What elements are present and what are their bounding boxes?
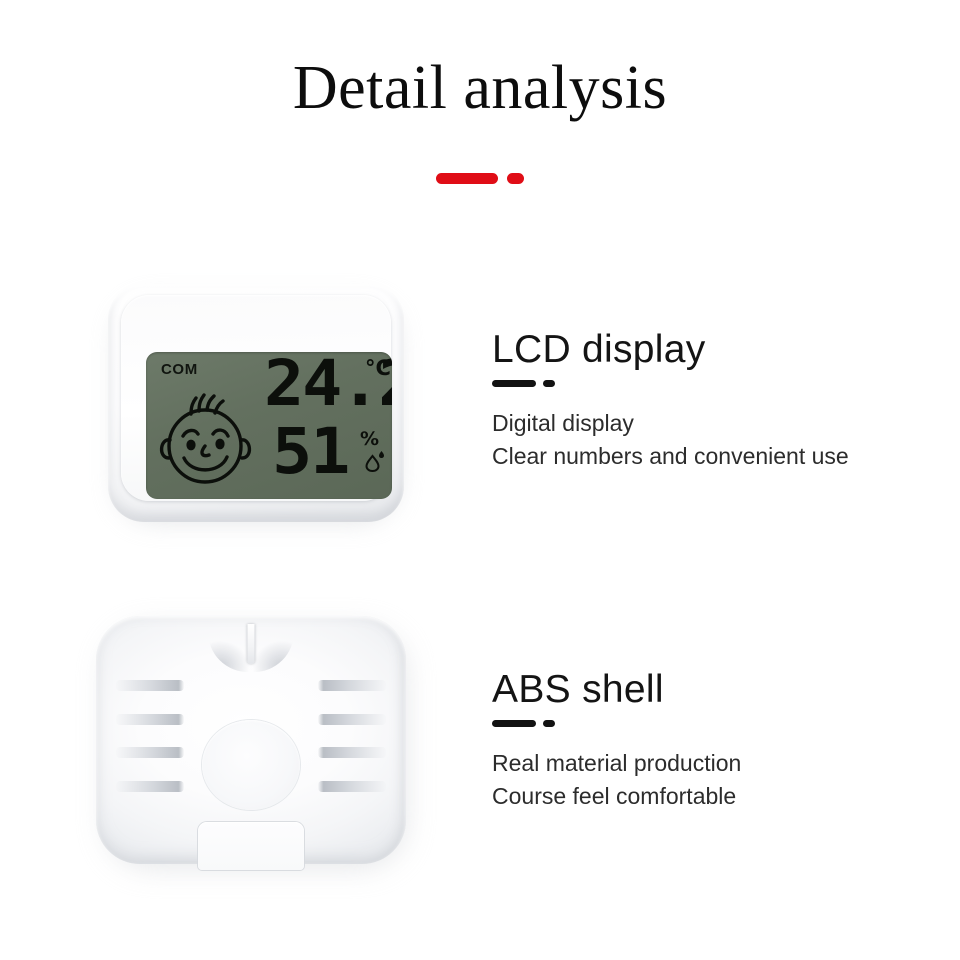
title-accent-divider [0, 173, 960, 184]
percent-unit-icon: % [360, 428, 379, 450]
feature-subtext-line-1-abs-shell: Real material production [492, 747, 942, 780]
lcd-readout: 24.2 °C 51 % [264, 354, 392, 499]
vent-slot [318, 781, 386, 792]
device-front-view: COM [108, 284, 404, 526]
feature-subtext-line-2-abs-shell: Course feel comfortable [492, 780, 942, 813]
device-back-body [96, 616, 406, 864]
page-title: Detail analysis [0, 54, 960, 122]
feature-row-lcd-display: COM [0, 252, 960, 552]
smiley-face-icon [153, 384, 258, 492]
lcd-mode-label: COM [161, 361, 198, 378]
vent-slot [318, 680, 386, 691]
heading-accent-dot [543, 380, 555, 387]
lcd-humidity-value: 51 [272, 424, 348, 479]
lcd-screen: COM [146, 352, 392, 499]
heading-accent-lcd-display [492, 380, 942, 387]
heading-accent-bar [492, 380, 536, 387]
lcd-humidity-reading: 51 [272, 424, 344, 479]
water-droplet-icon [360, 459, 386, 476]
title-accent-dot [507, 173, 524, 184]
lcd-humidity-unit-wrap: % [360, 430, 390, 477]
stand-hinge-slot [248, 624, 255, 664]
device-front-bezel: COM [121, 295, 391, 501]
device-front-body: COM [108, 284, 404, 522]
heading-accent-dot [543, 720, 555, 727]
feature-subtext-line-2-lcd-display: Clear numbers and convenient use [492, 440, 942, 473]
battery-compartment-door [198, 822, 304, 870]
vent-slots-right [318, 680, 386, 792]
feature-text-abs-shell: ABS shell Real material production Cours… [492, 670, 942, 812]
feature-subtext-line-1-lcd-display: Digital display [492, 407, 942, 440]
device-back-view [90, 608, 420, 888]
heading-accent-bar [492, 720, 536, 727]
feature-heading-lcd-display: LCD display [492, 330, 942, 371]
title-accent-bar [436, 173, 498, 184]
celsius-unit-icon: °C [365, 356, 391, 380]
vent-slots-left [116, 680, 184, 792]
vent-slot [116, 781, 184, 792]
feature-row-abs-shell: ABS shell Real material production Cours… [0, 600, 960, 900]
vent-slot [318, 714, 386, 725]
feature-text-lcd-display: LCD display Digital display Clear number… [492, 330, 942, 472]
vent-slot [116, 747, 184, 758]
vent-slot [318, 747, 386, 758]
lcd-temperature-unit-wrap: °C [365, 358, 391, 380]
vent-slot [116, 680, 184, 691]
heading-accent-abs-shell [492, 720, 942, 727]
vent-slot [116, 714, 184, 725]
feature-heading-abs-shell: ABS shell [492, 670, 942, 711]
magnet-circle-recess [202, 720, 300, 810]
